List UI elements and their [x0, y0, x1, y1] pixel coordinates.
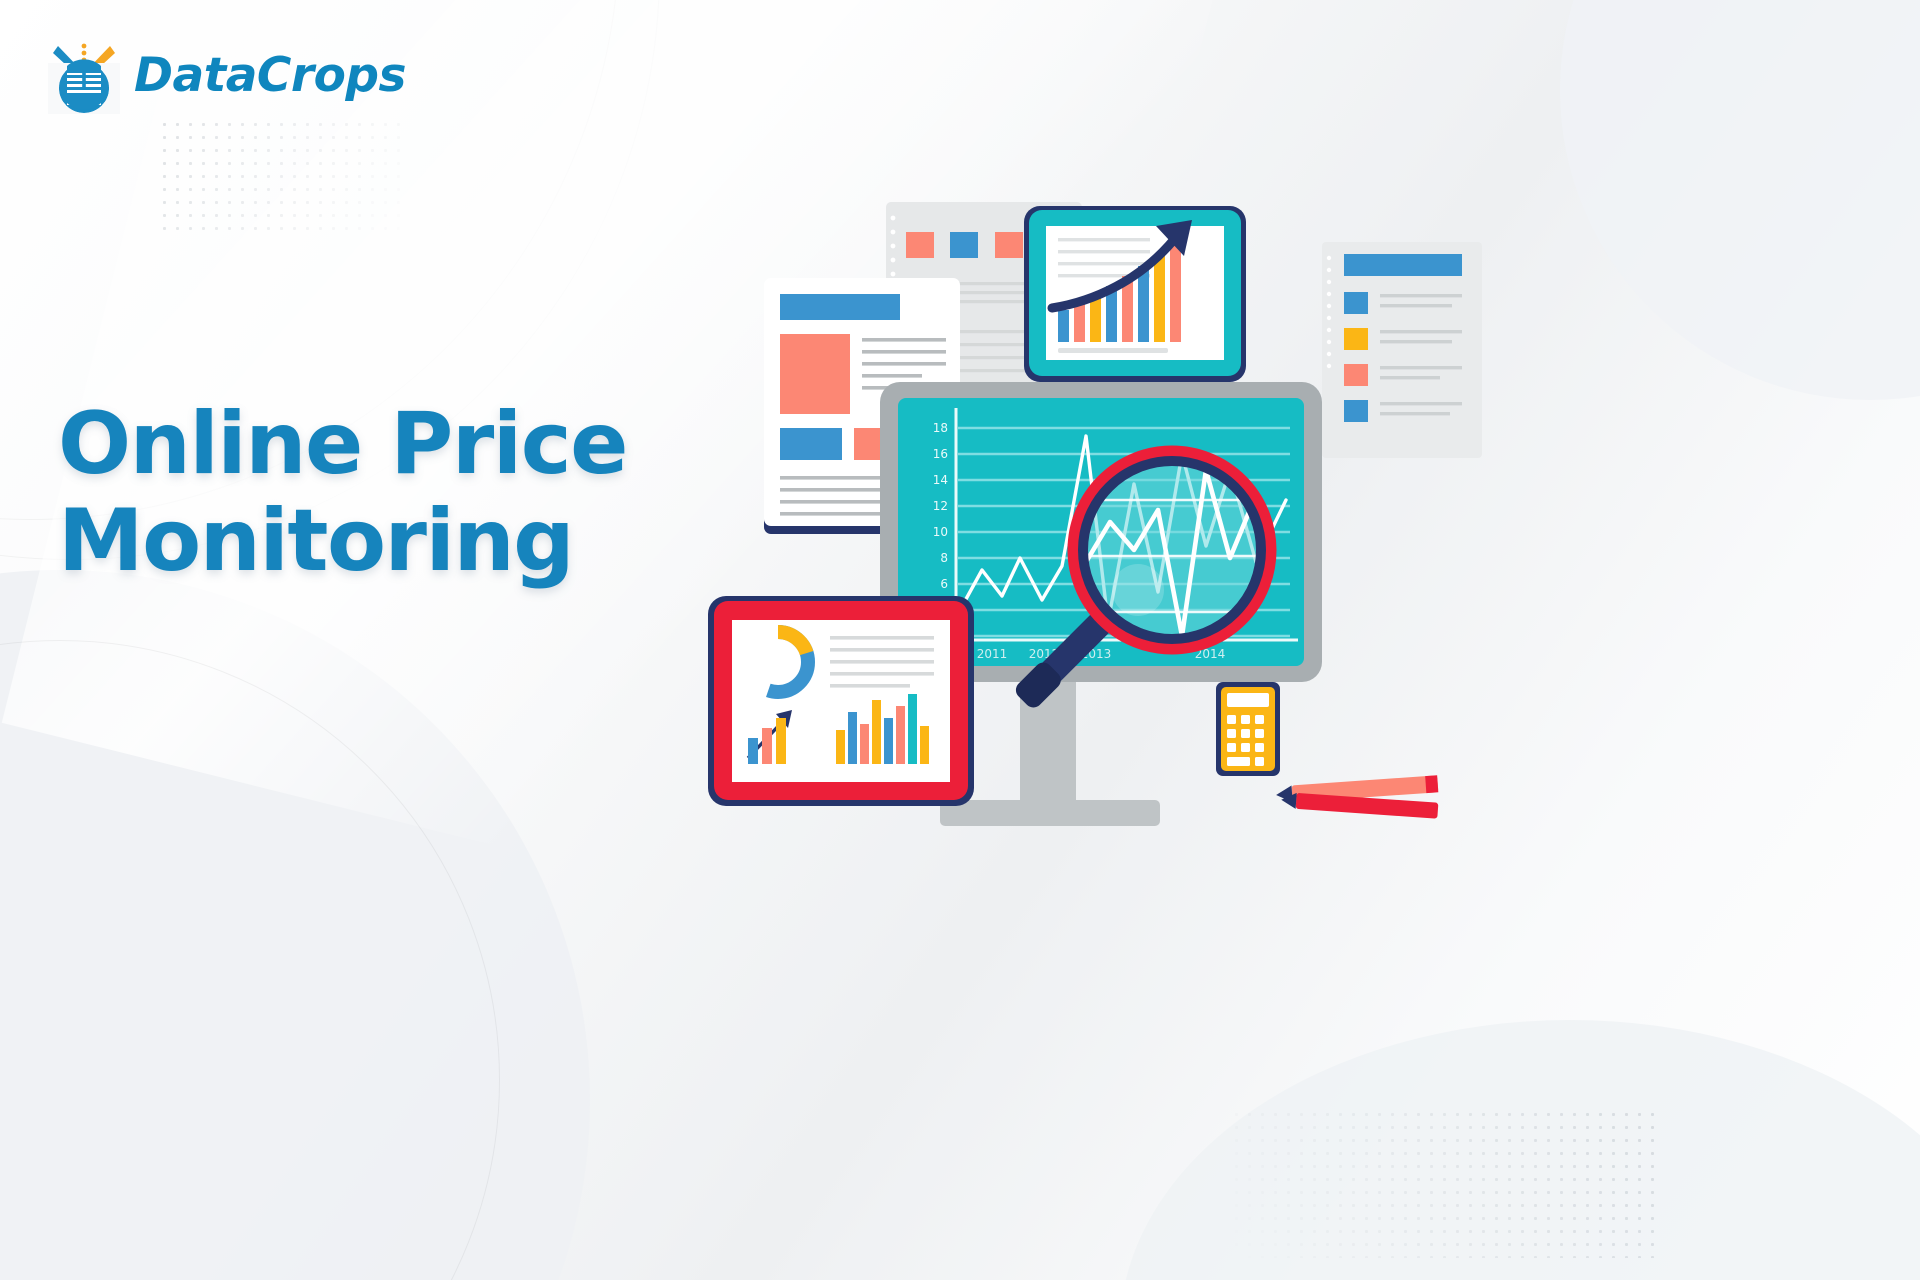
- brand-wordmark: DataCrops: [134, 48, 406, 103]
- bg-dot-pattern-bottom-right: [1230, 1108, 1660, 1258]
- tablet-dashboard-card: [708, 596, 974, 806]
- calculator-icon: [1216, 682, 1280, 776]
- pencils-icon: [1276, 775, 1439, 818]
- svg-text:14: 14: [933, 473, 948, 487]
- svg-text:12: 12: [933, 499, 948, 513]
- svg-text:6: 6: [940, 577, 948, 591]
- svg-text:16: 16: [933, 447, 948, 461]
- document-card-right: [1322, 242, 1482, 458]
- svg-text:10: 10: [933, 525, 948, 539]
- page-title: Online Price Monitoring: [58, 396, 627, 590]
- bg-blob-top-right: [1560, 0, 1920, 400]
- svg-text:8: 8: [940, 551, 948, 565]
- tablet-growth-chart-card: [1024, 206, 1246, 382]
- brand-logo[interactable]: DataCrops: [48, 36, 406, 114]
- page-title-line-2: Monitoring: [58, 493, 627, 590]
- svg-text:18: 18: [933, 421, 948, 435]
- price-monitoring-illustration: 18 16 14 12 10 8 6 4 2 2011 2012 20: [690, 170, 1510, 870]
- page-title-line-1: Online Price: [58, 396, 627, 493]
- page-canvas: DataCrops Online Price Monitoring: [0, 0, 1920, 1280]
- datacrops-logo-icon: [48, 36, 120, 114]
- bg-dot-pattern-top-left: [158, 118, 408, 238]
